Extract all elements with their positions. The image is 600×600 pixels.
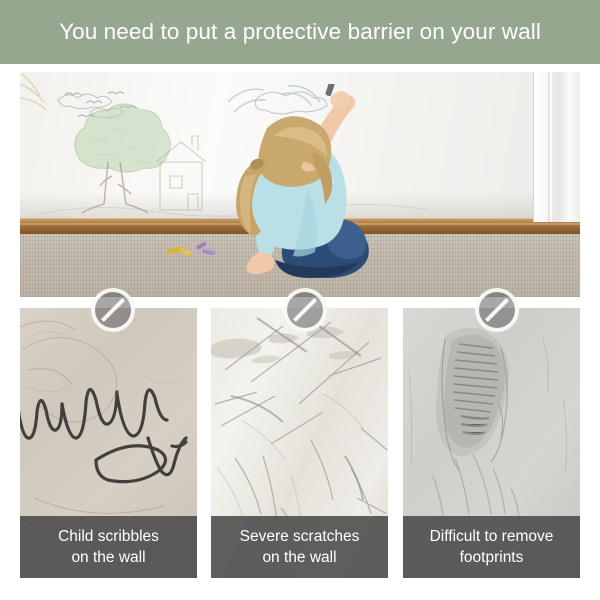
no-entry-icon: [283, 288, 327, 332]
problem-panel: Child scribbles on the wall: [20, 308, 197, 578]
panel-caption-line2: on the wall: [262, 547, 336, 568]
girl-drawing-on-wall: [215, 84, 385, 289]
panel-caption-line2: footprints: [460, 547, 524, 568]
panel-caption-line1: Child scribbles: [58, 526, 159, 547]
no-entry-icon: [475, 288, 519, 332]
hero-door-edge: [548, 72, 554, 222]
no-entry-icon: [91, 288, 135, 332]
panel-caption: Difficult to remove footprints: [403, 516, 580, 578]
panel-caption: Severe scratches on the wall: [211, 516, 388, 578]
promo-image-root: You need to put a protective barrier on …: [0, 0, 600, 600]
hero-door-trim: [533, 72, 580, 222]
problem-panel: Severe scratches on the wall: [211, 308, 388, 578]
problem-panel: Difficult to remove footprints: [403, 308, 580, 578]
panel-caption: Child scribbles on the wall: [20, 516, 197, 578]
page-title: You need to put a protective barrier on …: [59, 21, 541, 44]
header-banner: You need to put a protective barrier on …: [0, 0, 600, 64]
hero-photo: [20, 72, 580, 297]
panel-caption-line2: on the wall: [71, 547, 145, 568]
panel-caption-line1: Difficult to remove: [430, 526, 554, 547]
panel-caption-line1: Severe scratches: [240, 526, 360, 547]
